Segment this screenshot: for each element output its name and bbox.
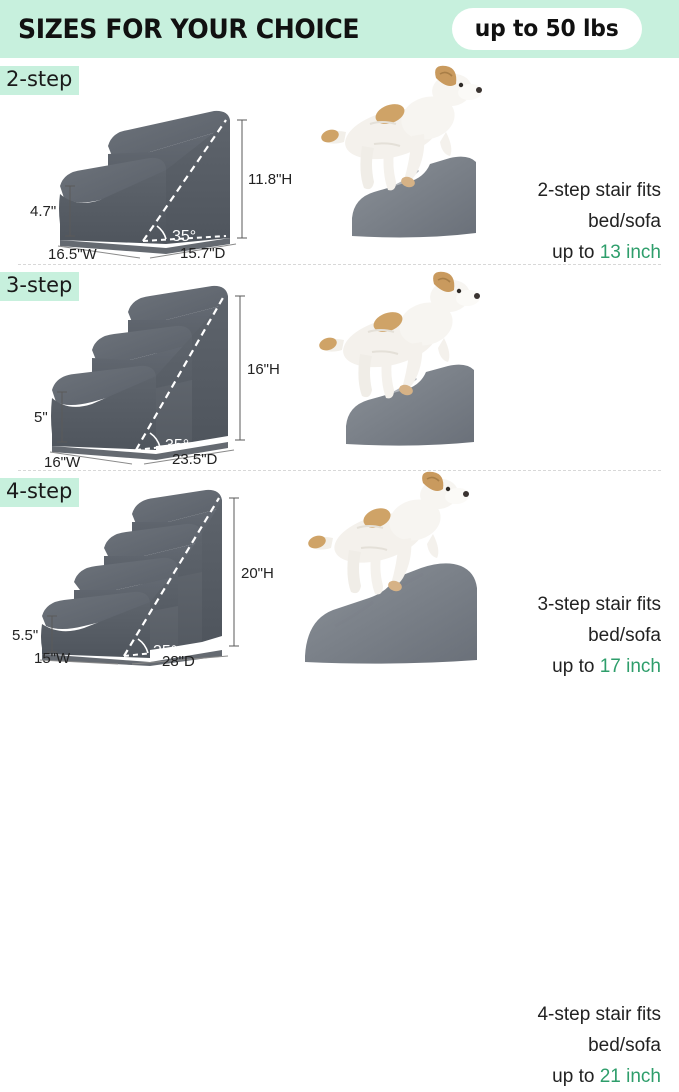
- depth-label-2-step: 15.7"D: [180, 245, 226, 262]
- weight-capacity-label: up to 50 lbs: [475, 16, 619, 42]
- fit-line-1: 2-step stair fits: [441, 176, 661, 207]
- product-row-4-step: 4-step: [0, 470, 679, 666]
- depth-label-3-step: 23.5"D: [172, 451, 218, 468]
- fit-line-2: bed/sofa: [441, 1031, 661, 1062]
- fit-accent-value: 21 inch: [600, 1066, 661, 1087]
- fit-description-4-step: 4-step stair fits bed/sofa up to 21 inch: [441, 1000, 661, 1092]
- product-row-2-step: 2-step: [0, 58, 679, 264]
- product-photo-4-step: [295, 470, 495, 666]
- fit-description-2-step: 2-step stair fits bed/sofa up to 13 inch: [441, 176, 661, 268]
- fit-prefix: up to: [552, 1066, 600, 1087]
- page-title: SIZES FOR YOUR CHOICE: [18, 14, 359, 45]
- product-diagram-2-step: 35° 11.8"H 4.7" 16.5"W 15.7"D: [0, 58, 300, 264]
- product-diagram-4-step: 35° 20"H 5.5" 15"W 28"D: [0, 470, 300, 666]
- fit-accent-value: 13 inch: [600, 242, 661, 263]
- width-label-3-step: 16"W: [44, 454, 81, 470]
- fit-line-2: bed/sofa: [441, 207, 661, 238]
- height-label-2-step: 11.8"H: [248, 171, 292, 188]
- fit-line-1: 4-step stair fits: [441, 1000, 661, 1031]
- height-label-3-step: 16"H: [247, 361, 280, 378]
- fit-line-3: up to 21 inch: [441, 1062, 661, 1092]
- width-label-2-step: 16.5"W: [48, 246, 98, 263]
- riser-label-2-step: 4.7": [30, 203, 56, 220]
- angle-label-2-step: 35°: [172, 228, 196, 245]
- product-photo-3-step: [300, 264, 500, 470]
- depth-label-4-step: 28"D: [162, 653, 195, 666]
- riser-label-3-step: 5": [34, 409, 48, 426]
- product-diagram-3-step: 35° 16"H 5" 16"W 23.5"D: [0, 264, 300, 470]
- product-row-3-step: 3-step: [0, 264, 679, 470]
- riser-label-4-step: 5.5": [12, 627, 38, 644]
- fit-prefix: up to: [552, 242, 600, 263]
- height-label-4-step: 20"H: [241, 565, 274, 582]
- weight-capacity-badge: up to 50 lbs: [452, 8, 642, 50]
- width-label-4-step: 15"W: [34, 650, 71, 666]
